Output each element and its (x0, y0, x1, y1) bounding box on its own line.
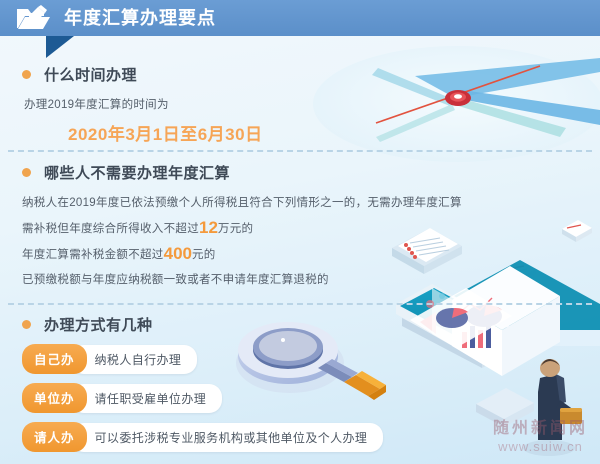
businessman-figure-illustration (523, 359, 582, 456)
section-body-line: 办理2019年度汇算的时间为 (24, 94, 263, 116)
condition-suffix: 万元的 (218, 223, 253, 235)
exempt-condition-intro: 纳税人在2019年度已依法预缴个人所得税且符合下列情形之一的，无需办理年度汇算 (22, 192, 462, 214)
report-sheet-front (452, 266, 560, 376)
highlight-date: 2020年3月1日至6月30日 (68, 120, 263, 145)
bullet-dot-icon (22, 168, 31, 177)
condition-prefix: 需补税但年度综合所得收入不超过 (22, 223, 199, 235)
section-header: 哪些人不需要办理年度汇算 (22, 162, 462, 183)
section-who-is-exempt: 哪些人不需要办理年度汇算 纳税人在2019年度已依法预缴个人所得税且符合下列情形… (22, 162, 462, 294)
section-title: 什么时间办理 (44, 64, 137, 85)
condition-amount: 400 (164, 244, 192, 263)
exempt-condition-2: 年度汇算需补税金额不超过400元的 (22, 243, 462, 266)
exempt-condition-1: 需补税但年度综合所得收入不超过12万元的 (22, 217, 462, 240)
report-sheet-back (410, 288, 512, 348)
filing-option-desc: 请任职受雇单位办理 (71, 384, 223, 413)
small-box-illustration (476, 388, 534, 427)
section-title: 办理方式有几种 (44, 314, 153, 335)
bullet-dot-icon (22, 70, 31, 79)
filing-option-row[interactable]: 单位办 请任职受雇单位办理 (22, 383, 383, 413)
exempt-condition-3: 已预缴税额与年度应纳税额一致或者不申请年度汇算退税的 (22, 269, 462, 291)
section-title: 哪些人不需要办理年度汇算 (44, 162, 230, 183)
section-header: 什么时间办理 (22, 64, 263, 85)
filing-option-row[interactable]: 自己办 纳税人自行办理 (22, 344, 383, 374)
page-title: 年度汇算办理要点 (64, 0, 216, 36)
condition-prefix: 年度汇算需补税金额不超过 (22, 249, 164, 261)
header-bar: 年度汇算办理要点 (0, 0, 600, 36)
condition-suffix: 元的 (192, 249, 216, 261)
filing-option-row[interactable]: 请人办 可以委托涉税专业服务机构或其他单位及个人办理 (22, 422, 383, 452)
section-divider-1 (8, 150, 592, 152)
section-how-to-file: 办理方式有几种 自己办 纳税人自行办理 单位办 请任职受雇单位办理 请人办 可以… (22, 314, 383, 452)
folder-edit-icon (14, 4, 54, 32)
bullet-dot-icon (22, 320, 31, 329)
section-when-to-file: 什么时间办理 办理2019年度汇算的时间为 2020年3月1日至6月30日 (22, 64, 263, 145)
exempt-conditions-list: 纳税人在2019年度已依法预缴个人所得税且符合下列情形之一的，无需办理年度汇算 … (22, 192, 462, 291)
filing-option-desc: 纳税人自行办理 (71, 345, 198, 374)
watermark-site-name: 随州新闻网 (493, 414, 588, 438)
section-header: 办理方式有几种 (22, 314, 383, 335)
infographic-poster: 年度汇算办理要点 什么时间办理 办理2019年度汇算的时间为 2020年3月1日… (0, 0, 600, 464)
watermark: 随州新闻网 www.suiw.cn (493, 414, 588, 454)
filing-option-tag[interactable]: 请人办 (22, 422, 87, 452)
watermark-url: www.suiw.cn (493, 439, 588, 454)
isometric-clock-illustration (313, 46, 600, 162)
filing-option-tag[interactable]: 单位办 (22, 383, 87, 413)
filing-option-desc: 可以委托涉税专业服务机构或其他单位及个人办理 (71, 423, 384, 452)
header-ribbon-fold (46, 36, 74, 58)
section-divider-2 (8, 303, 592, 305)
condition-amount: 12 (199, 218, 218, 237)
filing-option-tag[interactable]: 自己办 (22, 344, 87, 374)
